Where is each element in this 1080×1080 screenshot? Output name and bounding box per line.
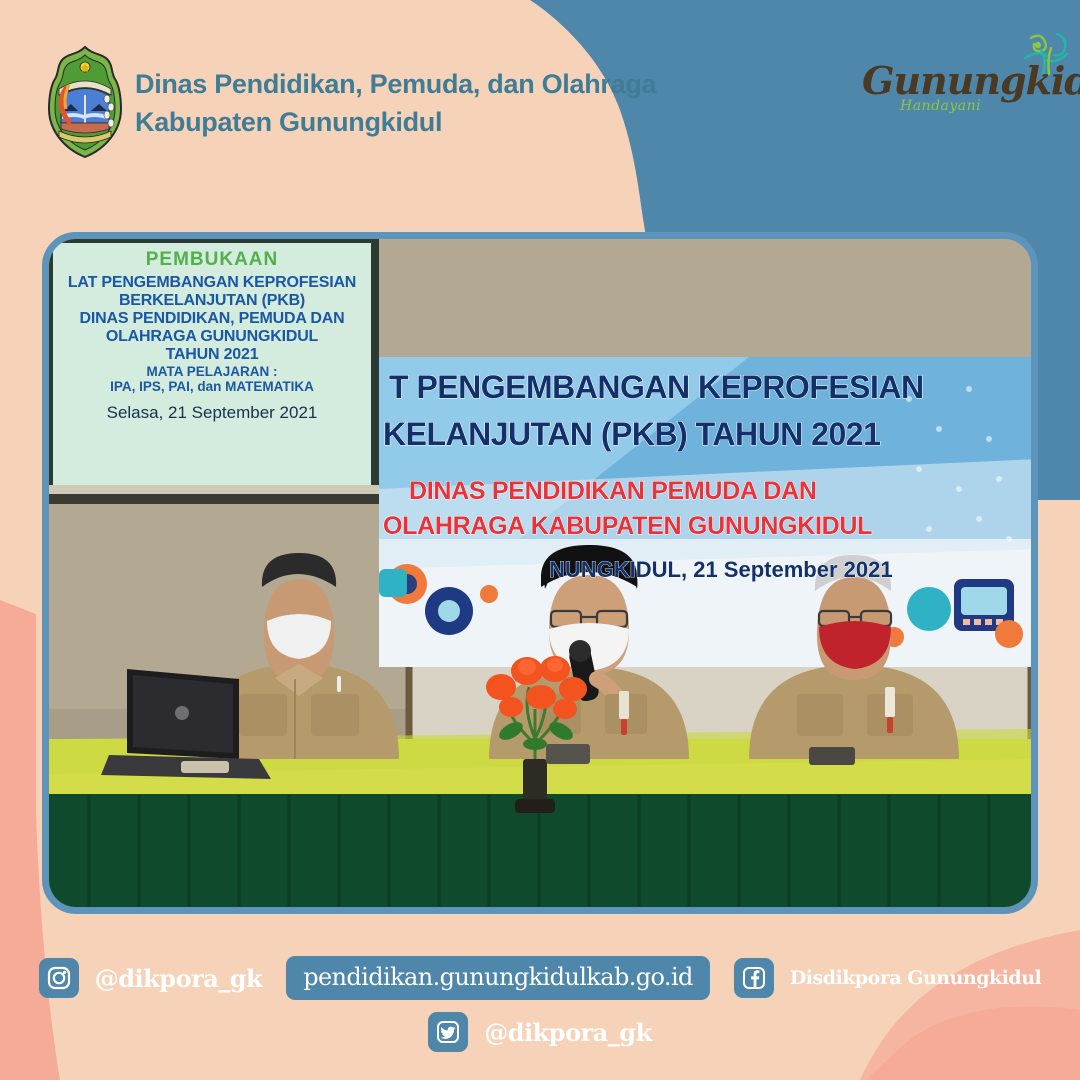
slide-line4: OLAHRAGA GUNUNGKIDUL (52, 328, 372, 346)
footer-social-bar: @dikpora_gk pendidikan.gunungkidulkab.go… (0, 940, 1080, 1052)
facebook-icon[interactable] (734, 958, 774, 998)
instagram-icon[interactable] (39, 958, 79, 998)
event-banner-text: T PENGEMBANGAN KEPROFESIAN KELANJUTAN (P… (379, 369, 1038, 583)
slide-line3: DINAS PENDIDIKAN, PEMUDA DAN (52, 310, 372, 328)
header: Dinas Pendidikan, Pemuda, dan Olahraga K… (0, 0, 1080, 200)
gunungkidul-coat-of-arms-icon (45, 45, 125, 159)
instagram-handle[interactable]: @dikpora_gk (95, 964, 262, 993)
facebook-handle[interactable]: Disdikpora Gunungkidul (790, 967, 1041, 989)
website-url[interactable]: pendidikan.gunungkidulkab.go.id (286, 956, 710, 1000)
page-title: Dinas Pendidikan, Pemuda, dan Olahraga K… (135, 65, 656, 142)
slide-line2: BERKELANJUTAN (PKB) (52, 292, 372, 310)
banner-line1: T PENGEMBANGAN KEPROFESIAN (389, 369, 1038, 406)
slide-date: Selasa, 21 September 2021 (52, 403, 372, 422)
twitter-handle[interactable]: @dikpora_gk (484, 1018, 651, 1047)
projector-slide-text: PEMBUKAAN LAT PENGEMBANGAN KEPROFESIAN B… (52, 249, 372, 422)
banner-line5: NUNGKIDUL, 21 September 2021 (549, 557, 1038, 583)
slide-line6: MATA PELAJARAN : (52, 364, 372, 379)
gunungkidul-brand-logo: Gunungkidul Handayani (862, 28, 1077, 123)
brand-wordmark: Gunungkidul (862, 58, 1080, 103)
event-photo: PEMBUKAAN LAT PENGEMBANGAN KEPROFESIAN B… (42, 232, 1038, 914)
banner-line2: KELANJUTAN (PKB) TAHUN 2021 (383, 416, 1038, 453)
slide-line1: LAT PENGEMBANGAN KEPROFESIAN (52, 274, 372, 292)
brand-tagline: Handayani (900, 98, 981, 114)
banner-line3: DINAS PENDIDIKAN PEMUDA DAN (409, 477, 1038, 506)
slide-heading: PEMBUKAAN (52, 249, 372, 270)
slide-line7: IPA, IPS, PAI, dan MATEMATIKA (52, 379, 372, 394)
header-title-line2: Kabupaten Gunungkidul (135, 103, 656, 141)
slide-line5: TAHUN 2021 (52, 346, 372, 364)
header-title-line1: Dinas Pendidikan, Pemuda, dan Olahraga (135, 69, 656, 99)
twitter-icon[interactable] (428, 1012, 468, 1052)
banner-line4: OLAHRAGA KABUPATEN GUNUNGKIDUL (383, 512, 1038, 541)
